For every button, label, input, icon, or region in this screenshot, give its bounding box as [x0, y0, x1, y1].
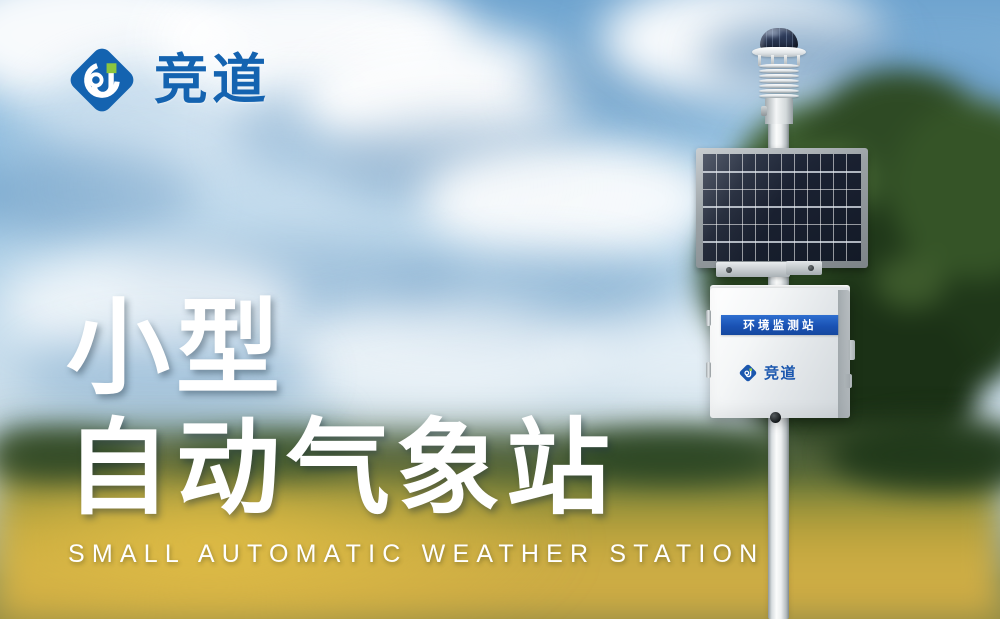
enclosure-side-face	[838, 290, 850, 418]
headline-block: 小型 自动气象站	[66, 296, 686, 522]
solar-panel	[696, 148, 868, 268]
enclosure-band: 环境监测站	[721, 315, 839, 335]
headline-line-2: 自动气象站	[66, 416, 686, 522]
enclosure-latch-left-lower	[706, 362, 711, 378]
sensor-neck	[765, 98, 793, 124]
panel-bracket-right	[786, 261, 822, 275]
panel-bracket-left	[716, 262, 790, 277]
jingdao-diamond-logo-icon	[64, 42, 140, 118]
enclosure-brand: 竞道	[738, 362, 824, 384]
enclosure-brand-label: 竞道	[764, 366, 797, 381]
weather-station: 环境监测站 竞道	[660, 0, 920, 619]
jingdao-diamond-logo-icon	[738, 363, 758, 383]
brand-name: 竞道	[154, 53, 270, 107]
enclosure-band-label: 环境监测站	[743, 317, 817, 333]
solar-panel-cells	[703, 154, 861, 261]
radiation-shield	[759, 64, 799, 100]
controller-enclosure: 环境监测站 竞道	[710, 288, 850, 418]
brand-logo[interactable]: 竞道	[64, 42, 270, 118]
ultrasonic-sensor-head	[748, 28, 810, 128]
banner-root: 竞道 小型 自动气象站 SMALL AUTOMATIC WEATHER STAT…	[0, 0, 1000, 619]
headline-line-1: 小型	[66, 296, 686, 402]
enclosure-latch-left	[706, 310, 711, 326]
sensor-clamp	[761, 106, 767, 116]
enclosure-cable-gland-icon	[770, 412, 781, 423]
